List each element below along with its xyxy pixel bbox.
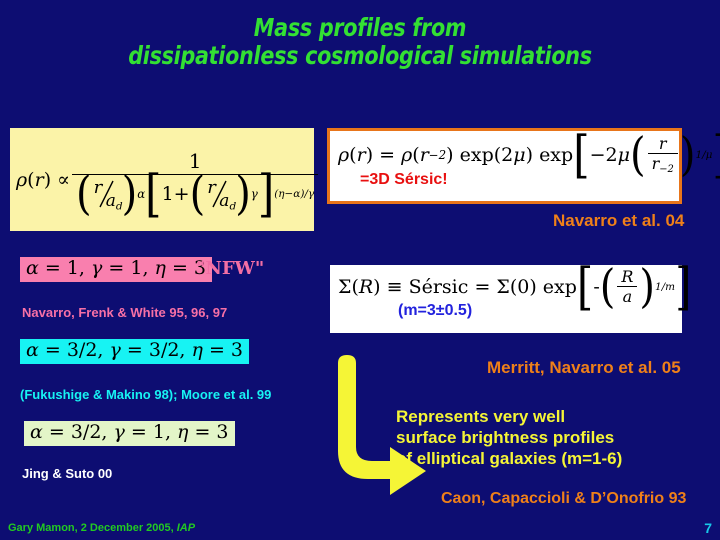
callout-line-1: Represents very well <box>396 406 622 427</box>
citation-fukushige-moore: (Fukushige & Makino 98); Moore et al. 99 <box>20 387 271 402</box>
reference-merritt-navarro-05: Merritt, Navarro et al. 05 <box>487 358 681 378</box>
footer-venue: IAP <box>177 522 195 534</box>
sersic-2d-equation-box: Σ(R) ≡ Sérsic = Σ(0) exp [ -( R a )1/m ]… <box>330 265 682 333</box>
parameter-label-nfw: "NFW" <box>196 258 264 279</box>
footer-author-text: Gary Mamon, 2 December 2005, <box>8 522 177 534</box>
density-profile-equation-box: ρ(r) ∝ 1 ( r ad )α [ <box>10 128 314 231</box>
sersic-3d-equation: ρ(r) = ρ(r−2) exp(2μ) exp [ −2μ ( r r−2 … <box>338 134 673 175</box>
callout-line-3: of elliptical galaxies (m=1-6) <box>396 448 622 469</box>
sersic-3d-note: =3D Sérsic! <box>360 171 673 189</box>
reference-caon-capaccioli: Caon, Capaccioli & D’Onofrio 93 <box>441 490 686 508</box>
sersic-2d-equation: Σ(R) ≡ Sérsic = Σ(0) exp [ -( R a )1/m ] <box>338 267 676 306</box>
footer-page-number: 7 <box>704 520 712 536</box>
slide-canvas: Mass profiles from dissipationless cosmo… <box>0 0 720 540</box>
sersic-3d-equation-box: ρ(r) = ρ(r−2) exp(2μ) exp [ −2μ ( r r−2 … <box>327 128 682 204</box>
parameter-box-moore: α = 3/2, γ = 3/2, η = 3 <box>20 339 249 364</box>
footer-author-date: Gary Mamon, 2 December 2005, IAP <box>8 522 195 534</box>
title-line-2: dissipationless cosmological simulations <box>29 42 691 70</box>
parameter-box-nfw: α = 1, γ = 1, η = 3 <box>20 257 212 282</box>
reference-navarro-04: Navarro et al. 04 <box>553 211 684 231</box>
parameter-box-jing-suto: α = 3/2, γ = 1, η = 3 <box>24 421 235 446</box>
density-fraction: 1 ( r ad )α [ 1+ <box>72 149 318 211</box>
density-profile-equation: ρ(r) ∝ 1 ( r ad )α [ <box>16 149 320 211</box>
page-title: Mass profiles from dissipationless cosmo… <box>29 14 691 70</box>
callout-text: Represents very well surface brightness … <box>396 406 622 469</box>
callout-line-2: surface brightness profiles <box>396 427 622 448</box>
title-line-1: Mass profiles from <box>29 14 691 42</box>
citation-navarro-frenk-white: Navarro, Frenk & White 95, 96, 97 <box>22 305 227 320</box>
citation-jing-suto: Jing & Suto 00 <box>22 466 112 481</box>
